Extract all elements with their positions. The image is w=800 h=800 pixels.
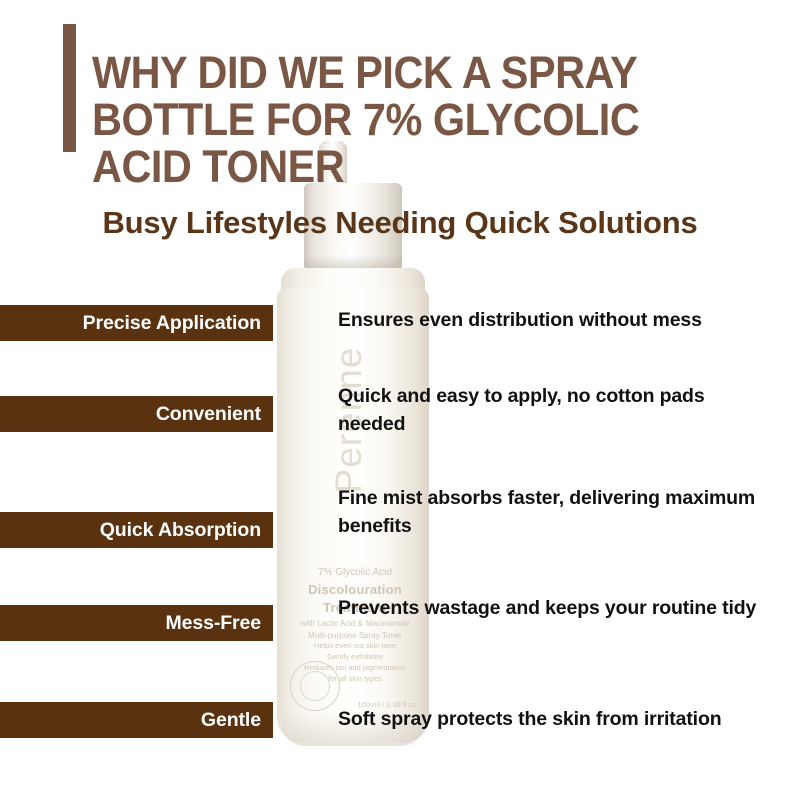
feature-label-gentle: Gentle bbox=[0, 702, 273, 738]
feature-label-convenient: Convenient bbox=[0, 396, 273, 432]
feature-description-mess-free: Prevents wastage and keeps your routine … bbox=[338, 595, 768, 623]
feature-description-precise-application: Ensures even distribution without mess bbox=[338, 307, 768, 335]
feature-label-mess-free: Mess-Free bbox=[0, 605, 273, 641]
infographic-canvas: Perenne 7% Glycolic Acid Discolouration … bbox=[0, 0, 800, 800]
feature-description-gentle: Soft spray protects the skin from irrita… bbox=[338, 706, 768, 734]
feature-label-precise-application: Precise Application bbox=[0, 305, 273, 341]
feature-label-quick-absorption: Quick Absorption bbox=[0, 512, 273, 548]
feature-description-quick-absorption: Fine mist absorbs faster, delivering max… bbox=[338, 485, 768, 540]
feature-list: Precise Application Ensures even distrib… bbox=[0, 0, 800, 800]
feature-description-convenient: Quick and easy to apply, no cotton pads … bbox=[338, 383, 768, 438]
